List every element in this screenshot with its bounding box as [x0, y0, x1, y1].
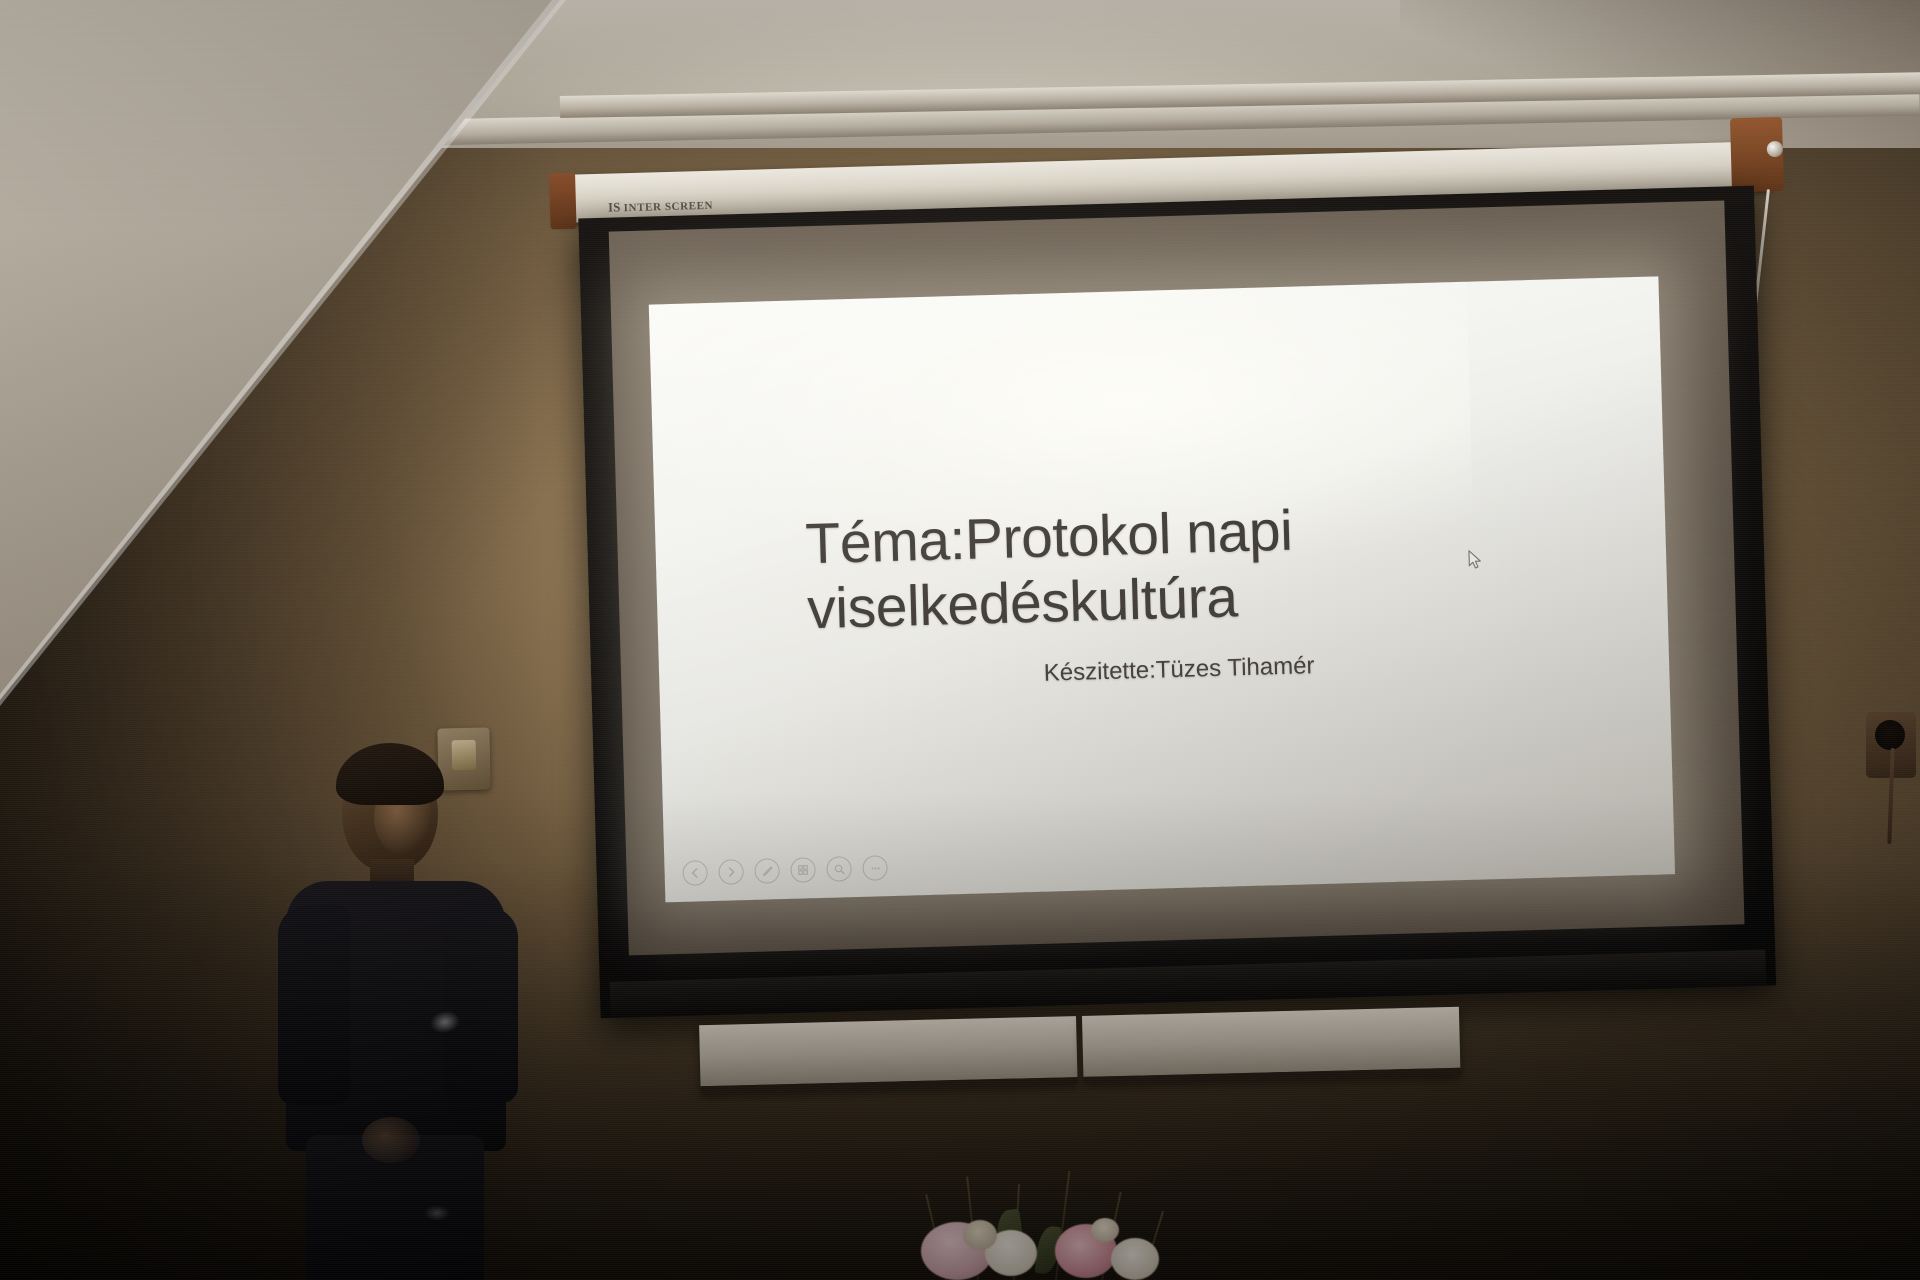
pen-tool-button[interactable]	[754, 858, 780, 884]
brand-prefix: IS	[608, 199, 621, 214]
screen-brand-label: IS INTER SCREEN	[608, 197, 713, 216]
presenter-person	[278, 735, 518, 1280]
grid-icon	[797, 864, 808, 875]
screen-black-border: Téma:Protokol napi viselkedéskultúra Kés…	[578, 186, 1776, 1019]
presenter-left-sleeve	[278, 905, 350, 1105]
flower-bud	[1091, 1218, 1119, 1242]
chevron-left-icon	[689, 867, 700, 878]
presenter-right-sleeve	[444, 907, 518, 1103]
room-scene: IS INTER SCREEN Téma:Protokol napi visel…	[0, 0, 1920, 1280]
pen-icon	[761, 865, 773, 877]
mouse-pointer-icon	[1468, 549, 1484, 570]
slide-subtitle: Készitette:Tüzes Tihamér	[809, 646, 1549, 695]
trousers-logo	[424, 1205, 450, 1221]
screen-weight-bar	[610, 950, 1767, 1018]
more-options-button[interactable]	[862, 855, 888, 881]
all-slides-button[interactable]	[790, 857, 816, 883]
chevron-right-icon	[725, 866, 736, 877]
next-slide-button[interactable]	[718, 859, 744, 885]
whiteboard-left	[699, 1016, 1078, 1093]
presenter-hands	[362, 1117, 420, 1163]
roller-end-cap-left	[549, 173, 577, 230]
magnifier-icon	[833, 863, 845, 875]
slideshow-toolbar[interactable]	[682, 855, 888, 886]
slide-title: Téma:Protokol napi viselkedéskultúra	[805, 492, 1548, 643]
zoom-tool-button[interactable]	[826, 856, 852, 882]
socket-hole-icon	[1875, 720, 1905, 750]
flower-blossom	[1111, 1238, 1159, 1280]
roller-mount-screw	[1767, 141, 1783, 157]
projected-slide[interactable]: Téma:Protokol napi viselkedéskultúra Kés…	[649, 276, 1675, 902]
presenter-hair	[336, 743, 444, 805]
previous-slide-button[interactable]	[682, 860, 708, 886]
projection-screen-unit: IS INTER SCREEN Téma:Protokol napi visel…	[563, 141, 1787, 1044]
flower-bud	[963, 1220, 997, 1250]
brand-name: INTER SCREEN	[624, 200, 714, 214]
roller-mount-bracket-right	[1730, 117, 1784, 192]
whiteboard-right	[1082, 1007, 1461, 1084]
ellipsis-icon	[869, 862, 881, 874]
flower-bouquet	[905, 1168, 1235, 1280]
